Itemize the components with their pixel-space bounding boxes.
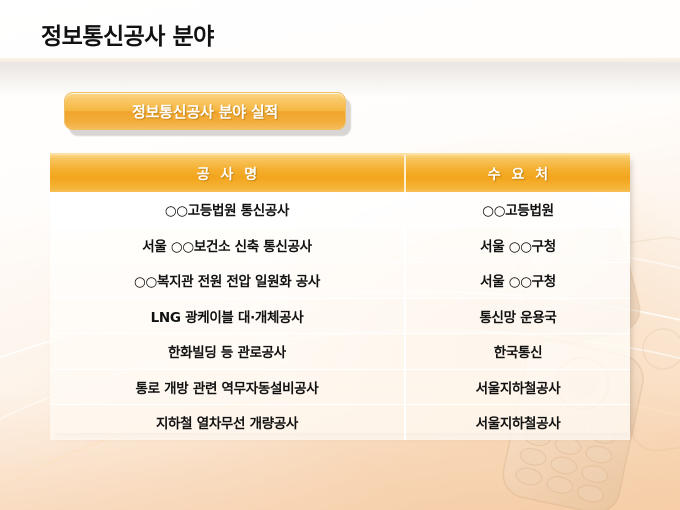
column-header-client: 수 요 처 [405, 154, 630, 192]
table-row: 서울 ○○보건소 신축 통신공사 서울 ○○구청 [50, 227, 630, 263]
table-header: 공 사 명 수 요 처 [50, 154, 630, 192]
cell-project: 서울 ○○보건소 신축 통신공사 [50, 227, 405, 263]
cell-project: 지하철 열차무선 개량공사 [50, 405, 405, 440]
slide: 정보통신공사 분야 정보통신공사 분야 실적 공 사 명 수 요 처 ○○고등법… [0, 0, 680, 510]
table-row: 지하철 열차무선 개량공사 서울지하철공사 [50, 405, 630, 440]
cell-client: 통신망 운용국 [405, 298, 630, 334]
column-header-project: 공 사 명 [50, 154, 405, 192]
cell-client: 서울 ○○구청 [405, 263, 630, 299]
table-row: ○○고등법원 통신공사 ○○고등법원 [50, 192, 630, 227]
table-row: 한화빌딩 등 관로공사 한국통신 [50, 334, 630, 370]
cell-client: 서울 ○○구청 [405, 227, 630, 263]
results-table-wrapper: 공 사 명 수 요 처 ○○고등법원 통신공사 ○○고등법원 서울 ○○보건소 … [50, 153, 630, 433]
cell-project: ○○고등법원 통신공사 [50, 192, 405, 227]
cell-project: ○○복지관 전원 전압 일원화 공사 [50, 263, 405, 299]
table-row: LNG 광케이블 대·개체공사 통신망 운용국 [50, 298, 630, 334]
cell-project: LNG 광케이블 대·개체공사 [50, 298, 405, 334]
cell-client: 서울지하철공사 [405, 405, 630, 440]
cell-client: 한국통신 [405, 334, 630, 370]
cell-client: 서울지하철공사 [405, 369, 630, 405]
section-title-label: 정보통신공사 분야 실적 [132, 101, 278, 122]
table-row: ○○복지관 전원 전압 일원화 공사 서울 ○○구청 [50, 263, 630, 299]
table-header-row: 공 사 명 수 요 처 [50, 154, 630, 192]
section-pill-wrapper: 정보통신공사 분야 실적 [64, 92, 346, 130]
table-body: ○○고등법원 통신공사 ○○고등법원 서울 ○○보건소 신축 통신공사 서울 ○… [50, 192, 630, 440]
cell-project: 한화빌딩 등 관로공사 [50, 334, 405, 370]
page-title: 정보통신공사 분야 [41, 17, 214, 51]
results-table: 공 사 명 수 요 처 ○○고등법원 통신공사 ○○고등법원 서울 ○○보건소 … [50, 153, 630, 440]
table-row: 통로 개방 관련 역무자동설비공사 서울지하철공사 [50, 369, 630, 405]
cell-project: 통로 개방 관련 역무자동설비공사 [50, 369, 405, 405]
section-title-button[interactable]: 정보통신공사 분야 실적 [64, 92, 346, 130]
cell-client: ○○고등법원 [405, 192, 630, 227]
